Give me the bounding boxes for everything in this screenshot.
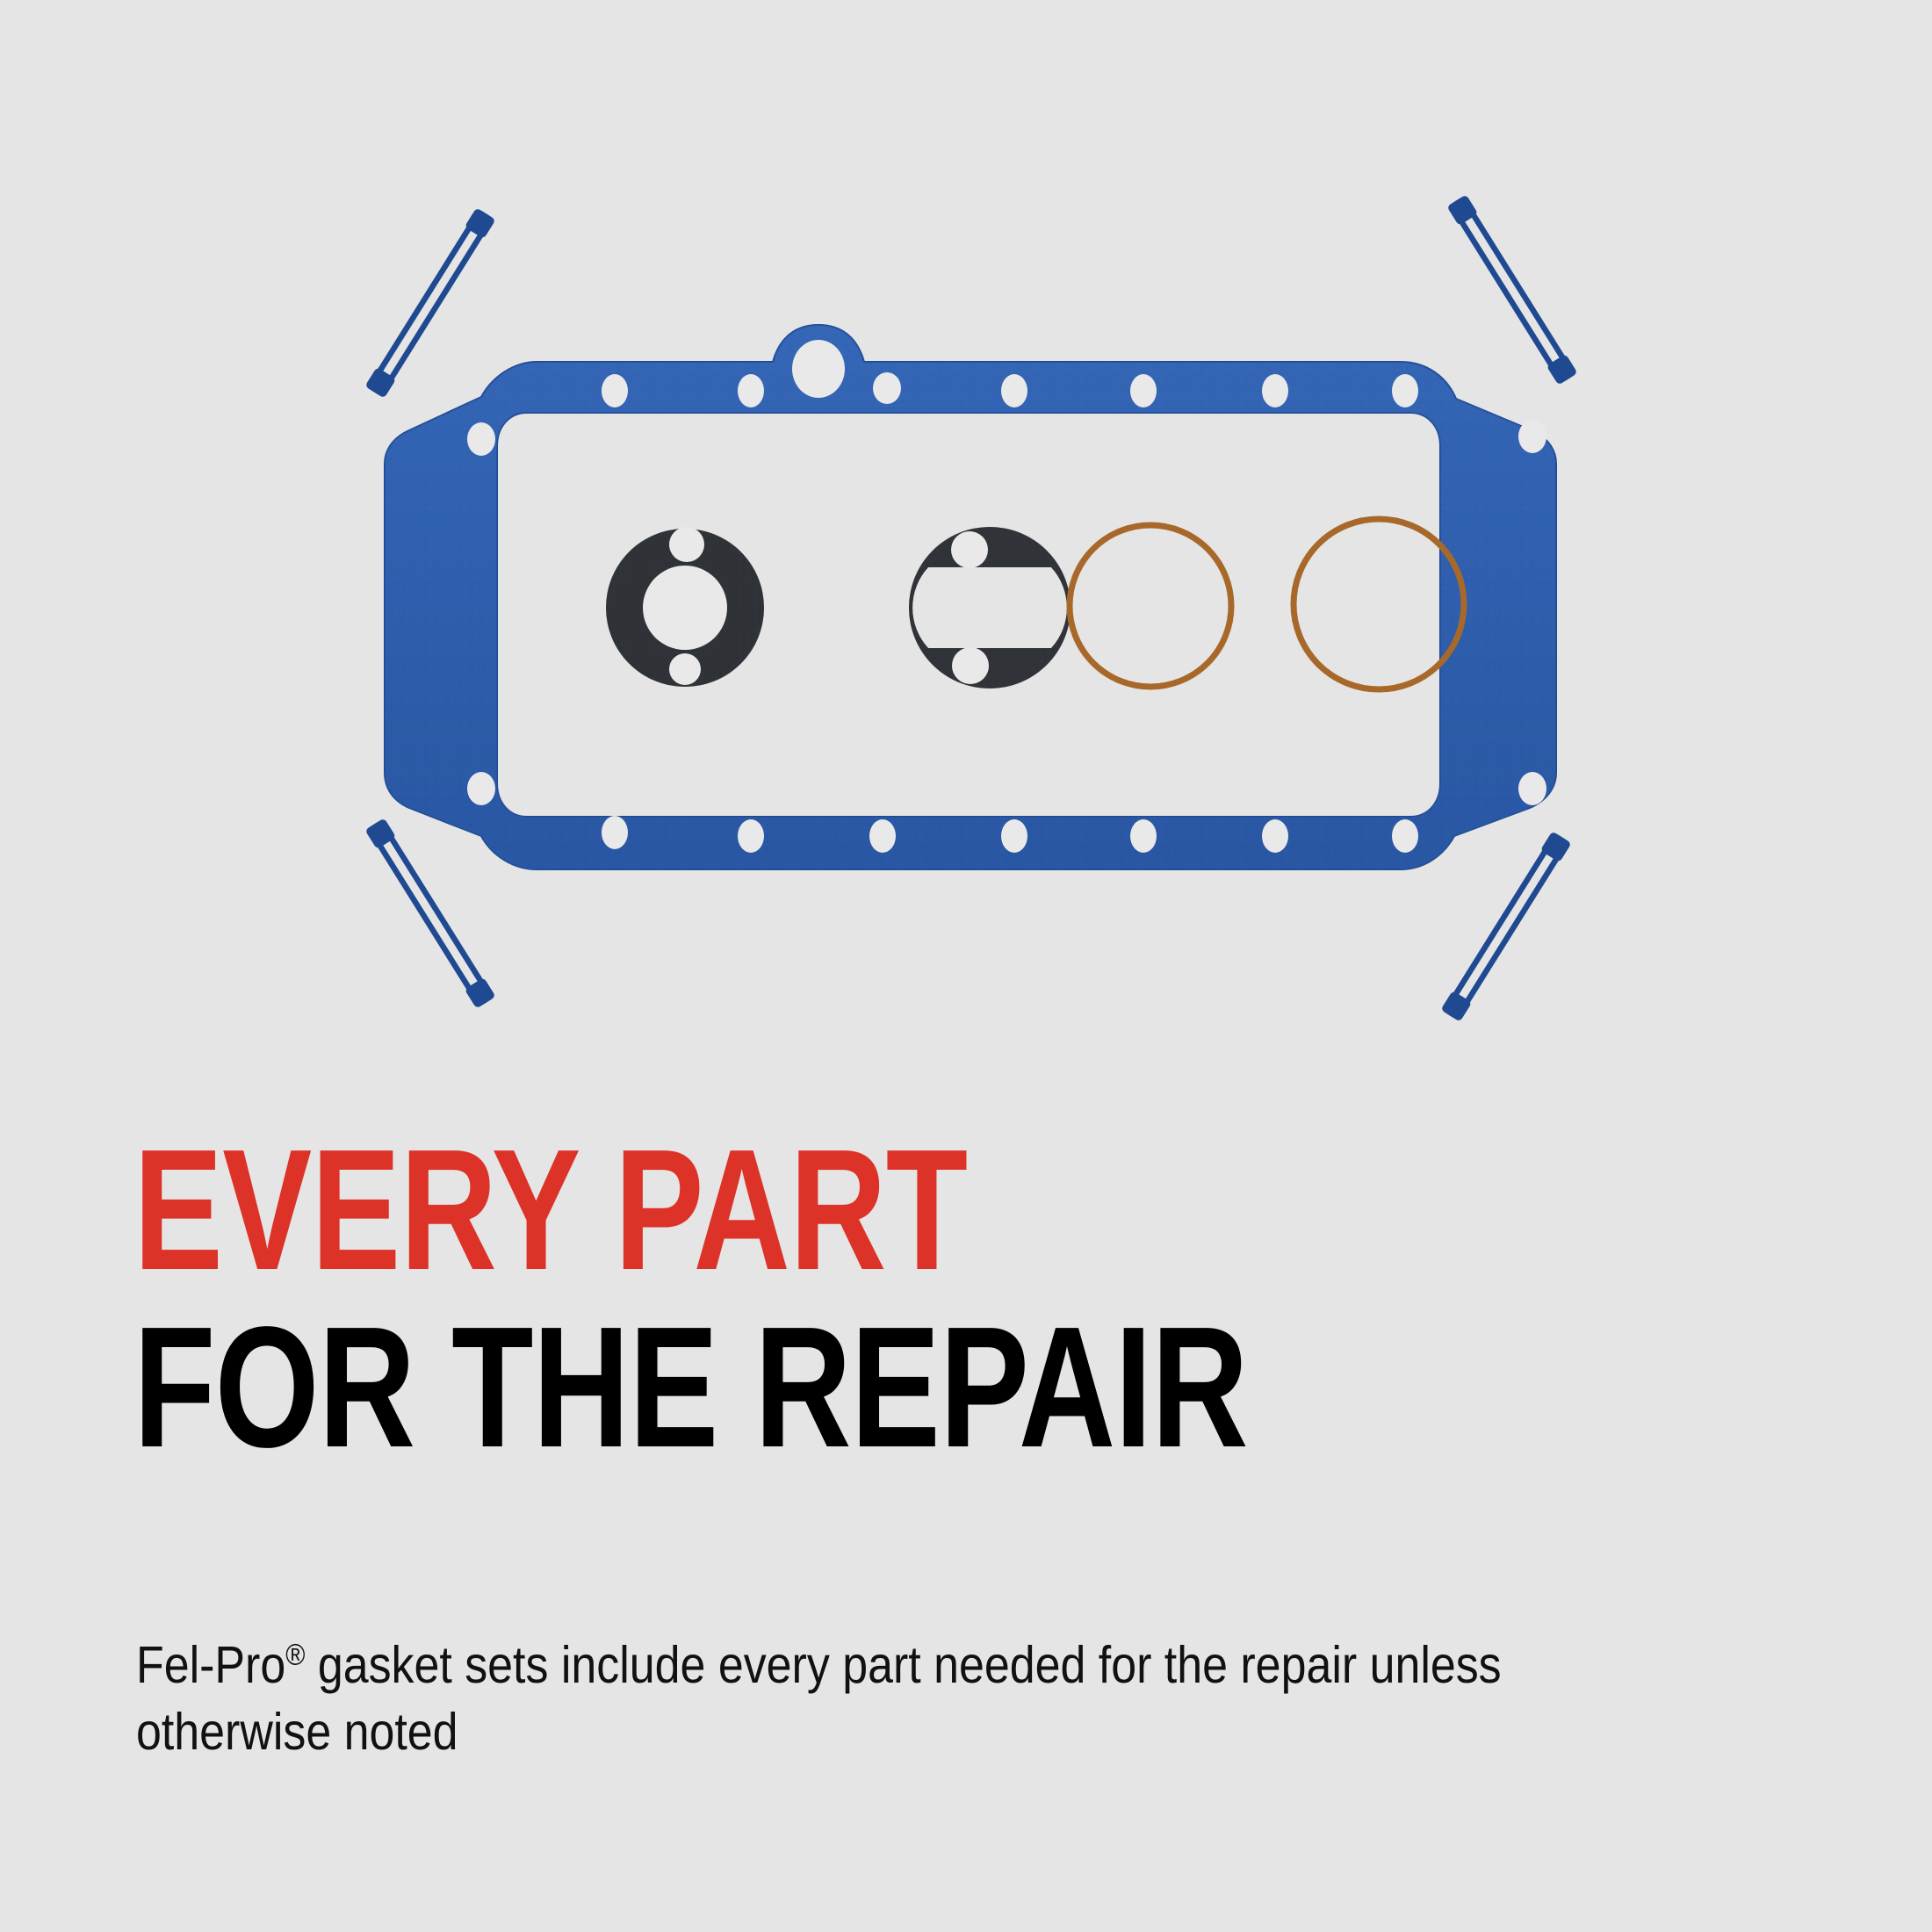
bolt-hole [669,653,701,685]
bolt-hole [1392,374,1418,407]
bolt-hole [467,422,495,456]
bolt-hole [792,340,845,398]
bolt-hole [1518,420,1546,453]
bolt-hole [1262,819,1288,853]
promo-card: EVERY PART FOR THE REPAIR Fel-Pro® gaske… [0,0,1932,1932]
bolt-hole [602,816,628,849]
bolt-hole [738,374,764,407]
bolt-hole [1130,819,1157,853]
bolt-hole [1001,374,1027,407]
headline-block: EVERY PART FOR THE REPAIR [133,1131,1837,1467]
bolt-hole [1518,772,1546,805]
product-photo-oil-pan-gasket-set [0,0,1932,1080]
bolt-hole [669,527,704,562]
bolt-hole [869,819,896,853]
bolt-hole [1130,374,1157,407]
brand-name: Fel-Pro [136,1636,285,1694]
bolt-hole [873,372,901,404]
registered-trademark-mark: ® [285,1638,305,1671]
bolt-hole [1262,374,1288,407]
body-copy-rest: gasket sets include every part needed fo… [136,1636,1502,1761]
bolt-hole [602,374,628,407]
bolt-hole [951,531,988,568]
headline-line-1: EVERY PART [133,1131,1462,1289]
headline-line-2: FOR THE REPAIR [133,1308,1462,1467]
body-copy: Fel-Pro® gasket sets include every part … [136,1633,1527,1765]
bolt-hole [738,819,764,853]
bolt-hole [1392,819,1418,853]
bolt-hole [467,772,495,805]
bolt-hole [1001,819,1027,853]
bolt-hole [952,647,989,684]
